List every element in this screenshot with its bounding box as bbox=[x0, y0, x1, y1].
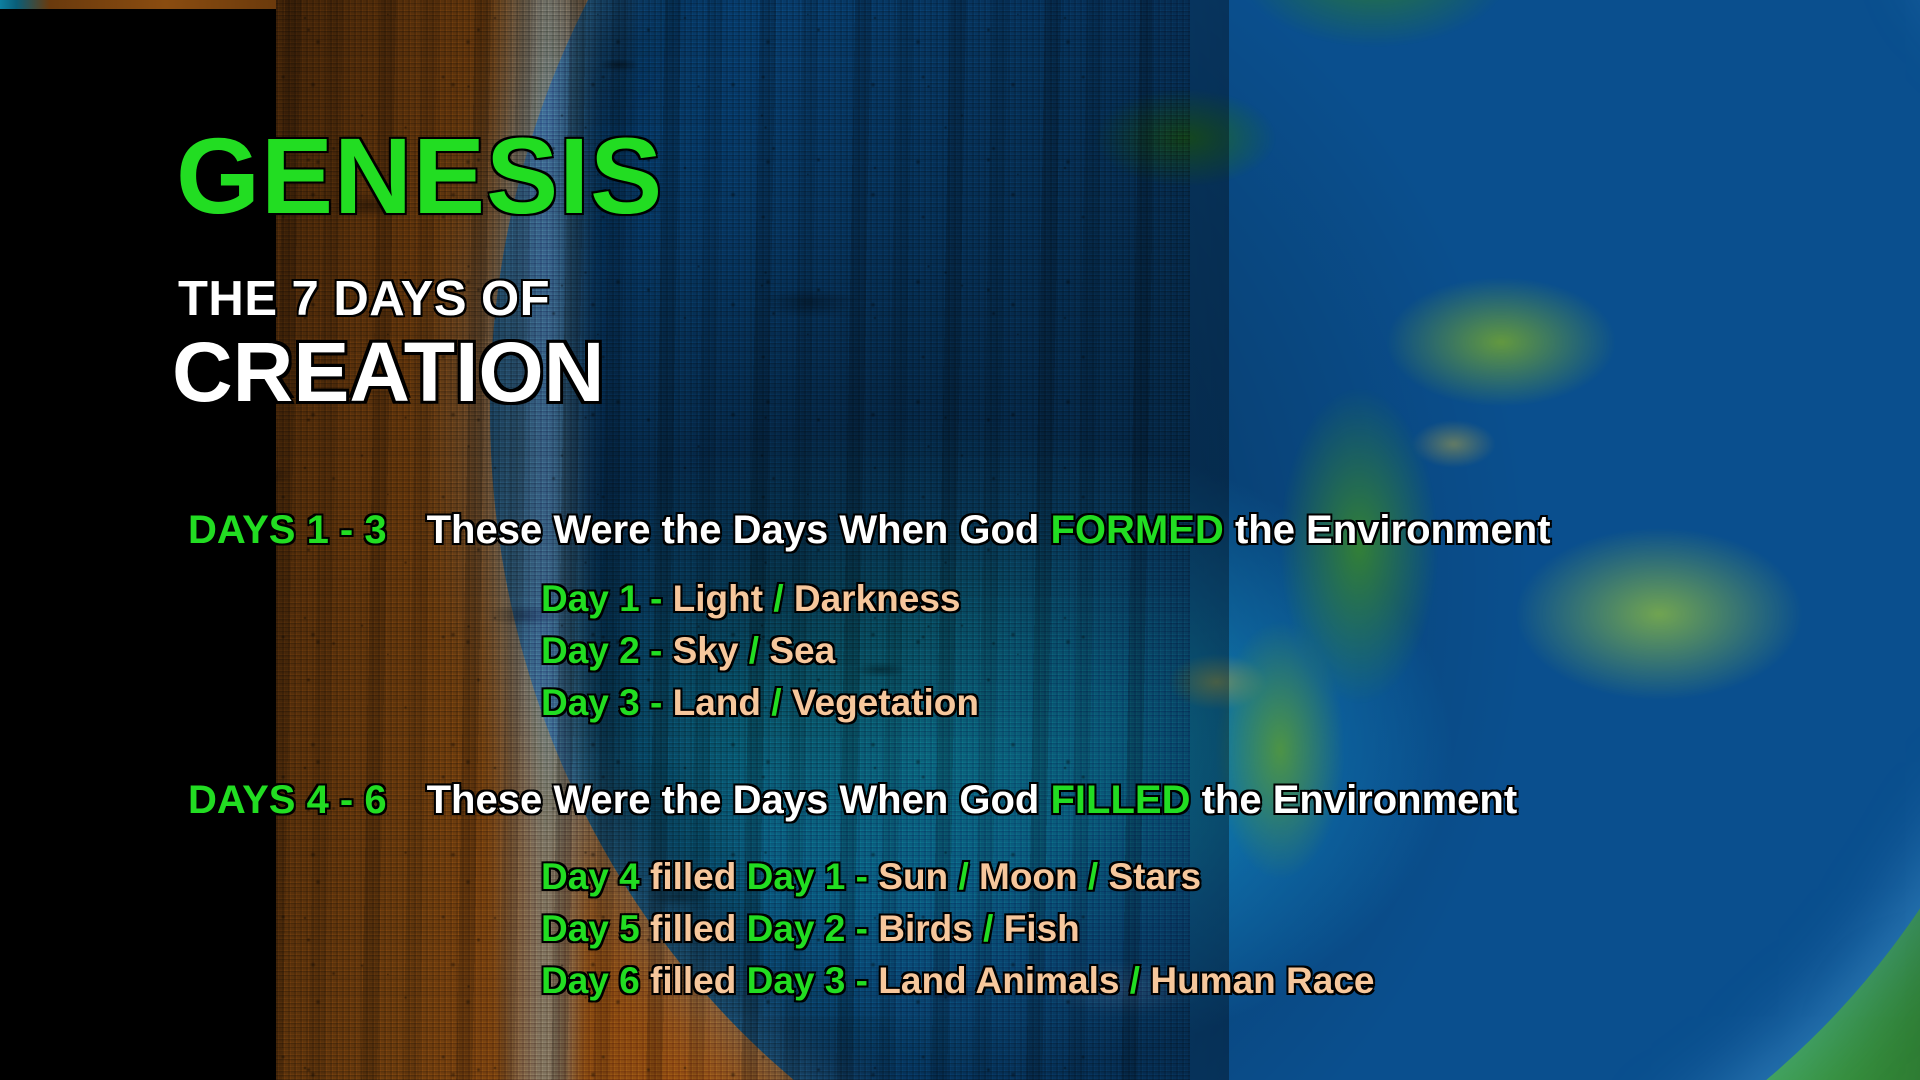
day-label: Day 1 bbox=[541, 578, 640, 619]
item-target-day: Day 2 bbox=[747, 908, 846, 949]
item-first-value: Land bbox=[673, 682, 761, 723]
list-item: Day 6 filled Day 3 - Land Animals / Huma… bbox=[541, 962, 1374, 999]
days-heading-before-1: These Were the Days When God bbox=[427, 508, 1040, 552]
days-heading-emphasis-filled: FILLED bbox=[1050, 778, 1190, 822]
item-second-value: Human Race bbox=[1150, 960, 1374, 1001]
dash-separator: - bbox=[856, 960, 868, 1001]
item-verb: filled bbox=[650, 908, 736, 949]
item-second-value: Darkness bbox=[794, 578, 961, 619]
dash-separator: - bbox=[856, 908, 868, 949]
page-title-genesis: GENESIS bbox=[176, 122, 663, 230]
day-label: Day 6 bbox=[541, 960, 640, 1001]
slide-content: GENESIS THE7 DAYSOF CREATION DAYS 1 - 3T… bbox=[0, 0, 1920, 1080]
subtitle-of: OF bbox=[481, 272, 550, 326]
item-verb: filled bbox=[650, 960, 736, 1001]
section-heading-days-4-6: DAYS 4 - 6These Were the Days When God F… bbox=[188, 780, 1517, 820]
dash-separator: - bbox=[650, 578, 662, 619]
item-first-value: Sun bbox=[878, 856, 948, 897]
dash-separator: - bbox=[856, 856, 868, 897]
subtitle-line-1: THE7 DAYSOF bbox=[178, 275, 550, 324]
item-first-value: Sky bbox=[673, 630, 739, 671]
item-second-value: Fish bbox=[1004, 908, 1080, 949]
day-label: Day 2 bbox=[541, 630, 640, 671]
dash-separator: - bbox=[650, 682, 662, 723]
list-item: Day 1 - Light / Darkness bbox=[541, 580, 960, 617]
subtitle-creation: CREATION bbox=[172, 330, 604, 414]
days-heading-before-2: These Were the Days When God bbox=[427, 778, 1040, 822]
slash-separator: / bbox=[1130, 960, 1140, 1001]
item-first-value: Birds bbox=[878, 908, 973, 949]
days-heading-after-1: the Environment bbox=[1235, 508, 1551, 552]
list-item: Day 4 filled Day 1 - Sun / Moon / Stars bbox=[541, 858, 1201, 895]
subtitle-the: THE bbox=[178, 272, 278, 326]
list-item: Day 2 - Sky / Sea bbox=[541, 632, 835, 669]
item-second-value: Sea bbox=[769, 630, 835, 671]
item-target-day: Day 3 bbox=[747, 960, 846, 1001]
slash-separator: / bbox=[749, 630, 759, 671]
day-label: Day 5 bbox=[541, 908, 640, 949]
days-heading-emphasis-formed: FORMED bbox=[1050, 508, 1223, 552]
item-third-value: Stars bbox=[1108, 856, 1201, 897]
day-label: Day 4 bbox=[541, 856, 640, 897]
days-heading-after-2: the Environment bbox=[1202, 778, 1518, 822]
slash-separator-2: / bbox=[1088, 856, 1098, 897]
item-target-day: Day 1 bbox=[747, 856, 846, 897]
days-range-label-2: DAYS 4 - 6 bbox=[188, 778, 387, 822]
days-range-label-1: DAYS 1 - 3 bbox=[188, 508, 387, 552]
item-second-value: Moon bbox=[979, 856, 1078, 897]
day-label: Day 3 bbox=[541, 682, 640, 723]
presentation-slide: GENESIS THE7 DAYSOF CREATION DAYS 1 - 3T… bbox=[0, 0, 1920, 1080]
item-first-value: Light bbox=[673, 578, 763, 619]
item-second-value: Vegetation bbox=[792, 682, 979, 723]
list-item: Day 3 - Land / Vegetation bbox=[541, 684, 979, 721]
slash-separator: / bbox=[983, 908, 993, 949]
slash-separator: / bbox=[773, 578, 783, 619]
list-item: Day 5 filled Day 2 - Birds / Fish bbox=[541, 910, 1080, 947]
item-verb: filled bbox=[650, 856, 736, 897]
section-heading-days-1-3: DAYS 1 - 3These Were the Days When God F… bbox=[188, 510, 1551, 550]
item-first-value: Land Animals bbox=[878, 960, 1119, 1001]
slash-separator: / bbox=[771, 682, 781, 723]
subtitle-seven-days: 7 DAYS bbox=[292, 272, 468, 326]
dash-separator: - bbox=[650, 630, 662, 671]
slash-separator: / bbox=[958, 856, 968, 897]
